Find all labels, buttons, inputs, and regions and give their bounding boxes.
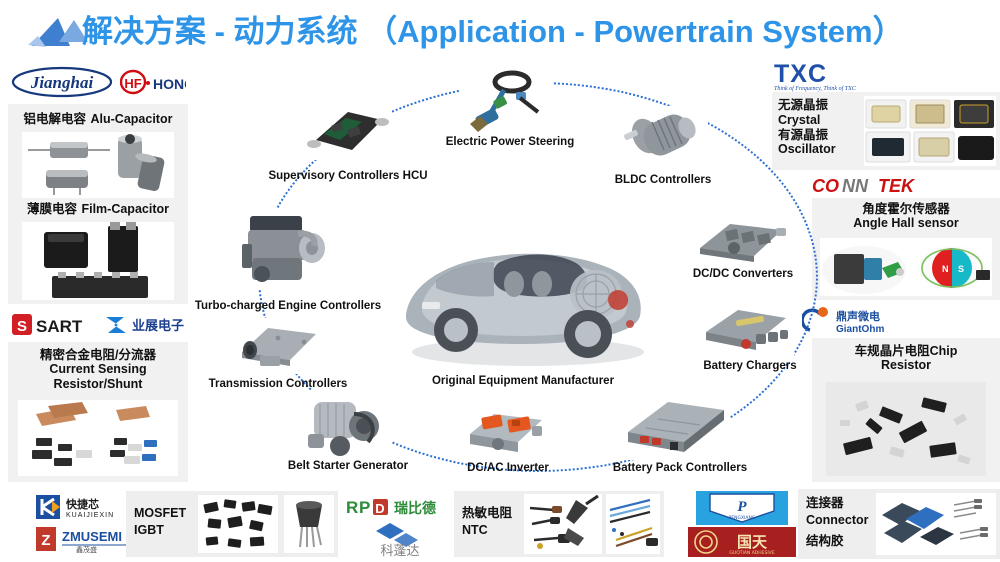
mosfet-igbt-panel: MOSFET IGBT [126,491,338,557]
alu-capacitor-caption-cn: 铝电解电容 [24,112,87,126]
battery-pack-controllers-image [618,394,730,460]
svg-text:R: R [346,498,358,517]
svg-text:鑫茂盛: 鑫茂盛 [76,545,97,553]
ntc-label-cn: 热敏电阻 [462,505,512,522]
capacitor-logo-strip: Jianghai HF HONGFA [8,62,188,102]
kuaijiexin-logo: 快捷芯 KUAIJIEXIN [36,493,136,521]
connector-group: P PENGXIANG 国天 GUOTIAN ADHESIVE 连接器 Conn… [686,487,1000,562]
svg-text:PENGXIANG: PENGXIANG [729,515,756,521]
conntek-logo-strip: CO NN TEK [812,174,932,198]
bridge-rectifier-photo [284,495,334,553]
electric-power-steering-image [460,68,552,140]
transmission-controllers-image [232,318,324,374]
supervisory-controllers-hcu-image [302,98,392,160]
alu-capacitor-caption-en: Alu-Capacitor [91,112,173,126]
svg-text:Jianghai: Jianghai [30,73,94,92]
film-capacitor-photo [22,222,174,300]
mosfet-label: MOSFET [134,505,186,522]
hall-sensor-panel: 角度霍尔传感器 Angle Hall sensor N S [812,198,1000,300]
resistor-shunt-panel: 精密合金电阻/分流器 Current Sensing Resistor/Shun… [8,342,188,482]
supplier-bottom-bar: 快捷芯 KUAIJIEXIN Z ZMUSEMI 鑫茂盛 MOSFET IGBT [0,487,1000,562]
rpd-logo: R P D 瑞比德 [346,495,450,519]
belt-starter-generator-image [300,390,392,460]
mosfet-igbt-group: 快捷芯 KUAIJIEXIN Z ZMUSEMI 鑫茂盛 MOSFET IGBT [18,487,338,562]
guotian-logo: 国天 GUOTIAN ADHESIVE [688,527,796,557]
supervisory-controllers-hcu-label: Supervisory Controllers HCU [252,170,444,182]
film-capacitor-caption-en: Film-Capacitor [81,202,169,216]
alu-capacitor-caption: 铝电解电容 Alu-Capacitor [8,110,188,128]
jianghai-logo: Jianghai [10,66,114,98]
crystal-oscillator-photo [864,96,996,166]
resistor-shunt-photo [18,400,178,476]
hall-sensor-photo: N S [820,238,992,296]
dcdc-converters-label: DC/DC Converters [658,268,828,280]
resistor-shunt-caption-en2: Resistor/Shunt [8,377,188,391]
svg-text:P: P [359,498,370,517]
ntc-label-en: NTC [462,522,512,539]
battery-pack-controllers-label: Battery Pack Controllers [582,462,778,474]
kepengda-logo: 科蓬达 [360,521,456,557]
mosfet-igbt-label: MOSFET IGBT [134,505,186,539]
svg-text:瑞比德: 瑞比德 [394,500,436,517]
ntc-label: 热敏电阻 NTC [462,505,512,539]
connector-photo [876,493,996,555]
ntc-sensors-photo [524,494,602,554]
resistor-shunt-caption: 精密合金电阻/分流器 Current Sensing Resistor/Shun… [8,348,188,391]
svg-text:国天: 国天 [737,533,768,551]
title-bar: 解决方案 - 动力系统 （Application - Powertrain Sy… [0,0,1000,62]
bldc-controllers-image [618,106,708,172]
capacitor-panel: 铝电解电容 Alu-Capacitor 薄膜电容 Film-Capacitor [8,104,188,304]
connector-label-cn: 连接器 [806,495,869,512]
oem-car-image [382,218,662,378]
svg-text:S: S [958,264,964,274]
chip-resistor-caption-cn: 车规晶片电阻Chip [812,344,1000,358]
svg-text:N: N [942,264,949,274]
battery-chargers-label: Battery Chargers [670,360,830,372]
oem-car-label: Original Equipment Manufacturer [348,375,698,387]
svg-text:S: S [17,318,27,335]
connector-label: 连接器 Connector [806,495,869,529]
film-capacitor-caption-cn: 薄膜电容 [27,202,77,216]
svg-text:快捷芯: 快捷芯 [65,497,99,511]
bldc-controllers-label: BLDC Controllers [578,174,748,186]
svg-text:GiantOhm: GiantOhm [836,324,884,335]
zmusemi-logo: Z ZMUSEMI 鑫茂盛 [36,525,136,553]
svg-text:SART: SART [36,317,83,336]
resistor-shunt-caption-en1: Current Sensing [8,362,188,376]
adhesive-label: 结构胶 [806,533,844,550]
battery-chargers-image [698,300,794,362]
dcac-inverter-label: DC/AC Inverter [428,462,588,474]
svg-text:TEK: TEK [878,176,916,196]
svg-text:KUAIJIEXIN: KUAIJIEXIN [66,512,114,519]
ntc-group: R P D 瑞比德 科蓬达 热敏电阻 NTC [344,487,664,562]
powertrain-diagram: Supervisory Controllers HCU Electric Pow… [170,60,830,490]
igbt-label: IGBT [134,522,186,539]
chip-resistor-photo [826,382,986,476]
chip-resistor-caption: 车规晶片电阻Chip Resistor [812,344,1000,373]
chip-resistor-panel: 车规晶片电阻Chip Resistor [812,338,1000,482]
ntc-wires-photo [606,494,660,554]
pengxiang-logo: P PENGXIANG [696,491,788,525]
chip-resistor-caption-en: Resistor [812,358,1000,372]
connector-panel: 连接器 Connector 结构胶 [798,489,1000,559]
svg-text:NN: NN [842,176,869,196]
alu-capacitor-photo [22,132,174,198]
svg-text:P: P [737,499,747,515]
hall-sensor-caption-en: Angle Hall sensor [812,216,1000,230]
svg-text:Z: Z [41,532,50,549]
belt-starter-generator-label: Belt Starter Generator [258,460,438,472]
sart-logo: S SART [12,312,94,338]
page-title: 解决方案 - 动力系统 （Application - Powertrain Sy… [82,6,942,58]
electric-power-steering-label: Electric Power Steering [420,136,600,148]
resistor-logo-strip: S SART 业展电子 [8,310,188,340]
hall-sensor-caption-cn: 角度霍尔传感器 [812,202,1000,216]
svg-text:科蓬达: 科蓬达 [380,544,419,557]
dcdc-converters-image [690,208,790,270]
svg-text:D: D [375,501,384,516]
turbo-charged-engine-label: Turbo-charged Engine Controllers [180,300,396,312]
transmission-controllers-label: Transmission Controllers [188,378,368,390]
svg-text:鼎声微电: 鼎声微电 [836,309,880,323]
connector-label-en: Connector [806,512,869,529]
turbo-charged-engine-image [228,208,332,290]
svg-text:HF: HF [124,76,141,91]
adhesive-label-cn: 结构胶 [806,533,844,550]
hall-sensor-caption: 角度霍尔传感器 Angle Hall sensor [812,202,1000,231]
mosfet-igbt-photo [198,495,278,553]
svg-text:ZMUSEMI: ZMUSEMI [62,529,122,544]
resistor-shunt-caption-cn: 精密合金电阻/分流器 [8,348,188,362]
dcac-inverter-image [460,400,552,462]
svg-text:GUOTIAN ADHESIVE: GUOTIAN ADHESIVE [729,550,774,556]
film-capacitor-caption: 薄膜电容 Film-Capacitor [8,200,188,218]
ntc-panel: 热敏电阻 NTC [454,491,664,557]
